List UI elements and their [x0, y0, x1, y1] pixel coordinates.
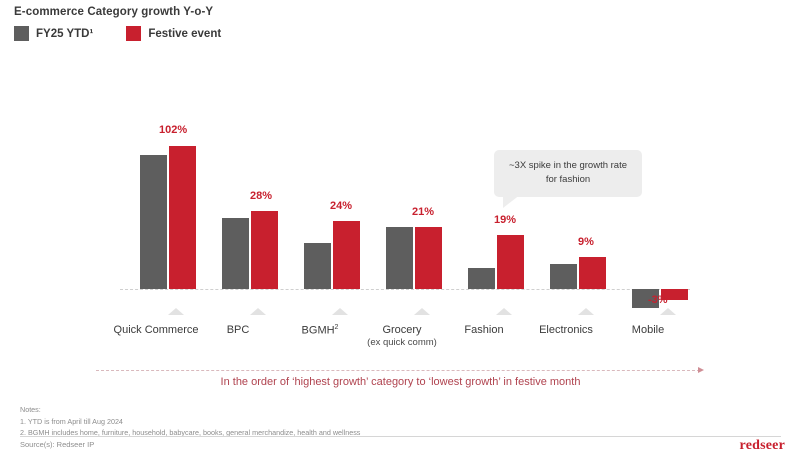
category-label: Mobile: [580, 324, 716, 336]
bar-fy25-ytd[interactable]: [550, 264, 577, 289]
category-tick-icon: [660, 308, 676, 315]
redseer-logo: redseer: [740, 438, 785, 454]
chart-canvas: E-commerce Category growth Y-o-Y FY25 YT…: [0, 0, 801, 466]
callout-fashion: ~3X spike in the growth rate for fashion: [494, 150, 642, 197]
bar-festive-event[interactable]: [497, 235, 524, 289]
notes-heading: Notes:: [20, 404, 360, 416]
bar-group: [140, 0, 196, 466]
category-tick-icon: [168, 308, 184, 315]
order-axis-arrow-icon: [698, 367, 704, 373]
category-tick-icon: [578, 308, 594, 315]
bar-value-label: 19%: [494, 214, 516, 226]
category-tick-icon: [250, 308, 266, 315]
notes-block: Notes: 1. YTD is from April till Aug 202…: [20, 404, 360, 439]
bar-fy25-ytd[interactable]: [222, 218, 249, 289]
bar-fy25-ytd[interactable]: [304, 243, 331, 289]
bar-festive-event[interactable]: [579, 257, 606, 289]
bar-value-label: 24%: [330, 200, 352, 212]
callout-line-2: for fashion: [546, 174, 590, 185]
bar-fy25-ytd[interactable]: [386, 227, 413, 289]
category-tick-icon: [496, 308, 512, 315]
plot-area: 102%Quick Commerce28%BPC24%BGMH221%Groce…: [0, 0, 801, 466]
bar-group: [222, 0, 278, 466]
callout-tail: [503, 191, 525, 208]
bar-value-label: 9%: [578, 236, 594, 248]
bar-value-label: 102%: [159, 124, 187, 136]
bar-value-label: -3%: [648, 294, 668, 306]
bar-festive-event[interactable]: [169, 146, 196, 289]
bar-value-label: 21%: [412, 206, 434, 218]
bar-group: [386, 0, 442, 466]
category-tick-icon: [332, 308, 348, 315]
source-text: Source(s): Redseer IP: [20, 440, 94, 449]
footer-divider: [20, 436, 781, 437]
order-caption: In the order of ‘highest growth’ categor…: [0, 376, 801, 388]
bar-fy25-ytd[interactable]: [468, 268, 495, 289]
bar-group: [632, 0, 688, 466]
note-item-1: 1. YTD is from April till Aug 2024: [20, 416, 360, 428]
note-item-2: 2. BGMH includes home, furniture, househ…: [20, 427, 360, 439]
bar-fy25-ytd[interactable]: [140, 155, 167, 289]
bar-value-label: 28%: [250, 190, 272, 202]
category-tick-icon: [414, 308, 430, 315]
bar-group: [304, 0, 360, 466]
order-axis-line: [96, 370, 700, 371]
bar-festive-event[interactable]: [251, 211, 278, 289]
callout-line-1: ~3X spike in the growth rate: [509, 160, 627, 171]
bar-group: [468, 0, 524, 466]
bar-group: [550, 0, 606, 466]
bar-festive-event[interactable]: [415, 227, 442, 289]
bar-festive-event[interactable]: [333, 221, 360, 289]
